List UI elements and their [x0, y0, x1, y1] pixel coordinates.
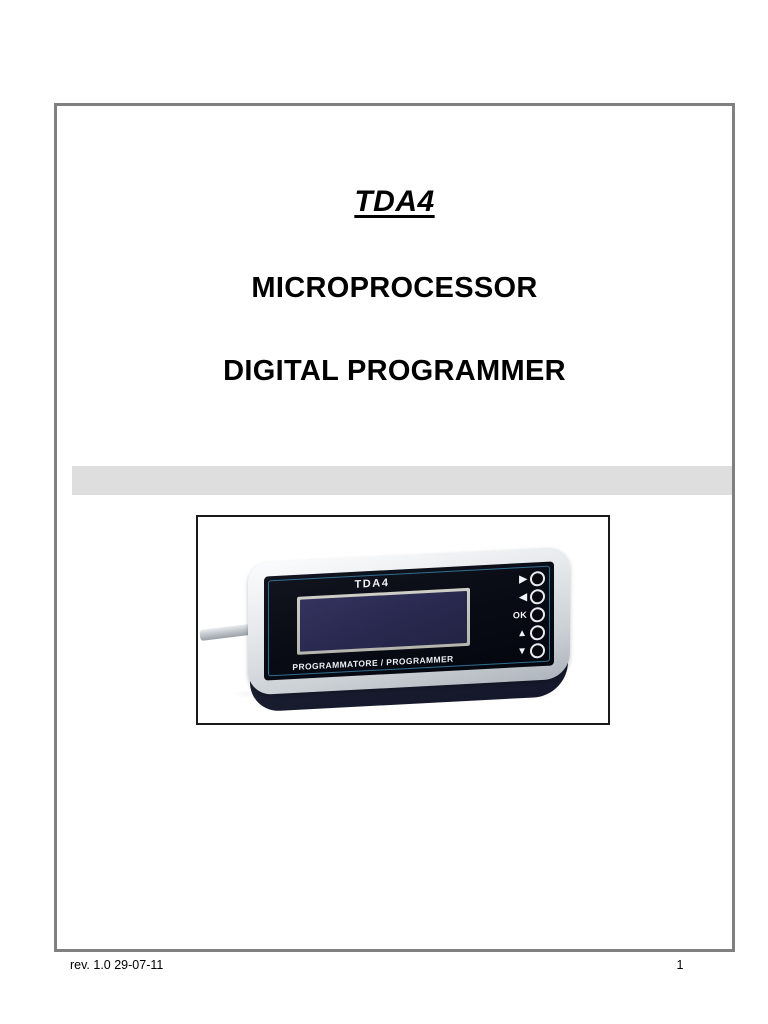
arrow-up-icon: ▲ — [517, 628, 527, 639]
device-button-right[interactable]: ▶ — [483, 570, 545, 590]
device-button-left[interactable]: ◀ — [483, 588, 545, 608]
button-ring-icon — [530, 589, 545, 605]
device-lcd-screen — [300, 591, 467, 652]
footer-page-number: 1 — [640, 958, 720, 972]
device-button-up[interactable]: ▲ — [483, 624, 545, 644]
cover-title-block: TDA4 MICROPROCESSOR DIGITAL PROGRAMMER — [54, 185, 735, 388]
button-ring-icon — [530, 607, 545, 623]
button-ring-icon — [530, 625, 545, 641]
grey-separator-band — [72, 466, 732, 495]
subtitle-line-2: DIGITAL PROGRAMMER — [54, 305, 735, 388]
ok-label-icon: OK — [513, 611, 527, 621]
subtitle-line-1: MICROPROCESSOR — [54, 220, 735, 305]
arrow-left-icon: ◀ — [519, 592, 527, 602]
product-photo-frame: TDA4 ▶ ◀ OK ▲ — [196, 515, 610, 725]
footer-revision: rev. 1.0 29-07-11 — [70, 958, 163, 972]
device-button-ok[interactable]: OK — [483, 606, 545, 626]
button-ring-icon — [530, 571, 545, 587]
device-lcd-bezel — [297, 588, 470, 655]
arrow-right-icon: ▶ — [519, 574, 527, 584]
page-title: TDA4 — [54, 185, 735, 220]
product-photo: TDA4 ▶ ◀ OK ▲ — [198, 517, 608, 723]
device-faceplate: TDA4 ▶ ◀ OK ▲ — [264, 561, 554, 680]
